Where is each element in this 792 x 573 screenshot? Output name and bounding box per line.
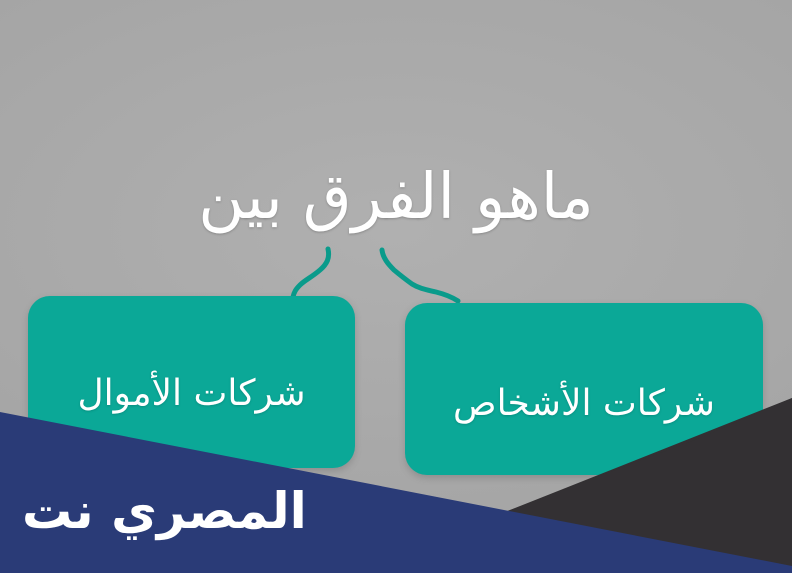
infographic-canvas: ماهو الفرق بين شركات الأموال شركات الأشخ… xyxy=(0,0,792,573)
card-companies-of-capital[interactable]: شركات الأموال xyxy=(28,296,355,468)
card-companies-of-persons[interactable]: شركات الأشخاص xyxy=(405,303,763,475)
card-right-label: شركات الأشخاص xyxy=(453,383,715,424)
card-left-label: شركات الأموال xyxy=(77,373,305,414)
page-title: ماهو الفرق بين xyxy=(0,158,792,237)
watermark-brand: المصري نت xyxy=(22,482,307,540)
